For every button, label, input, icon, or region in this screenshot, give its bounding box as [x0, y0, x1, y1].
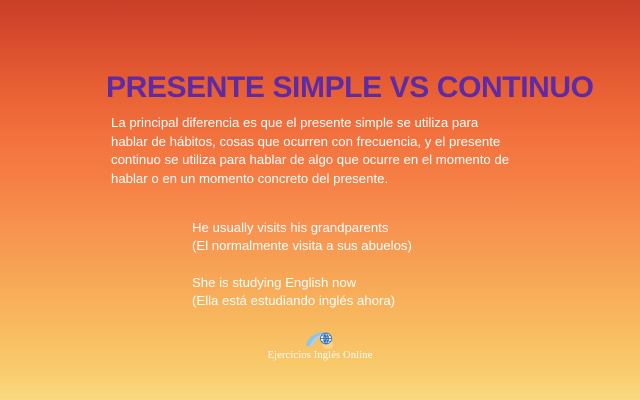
- examples-list: He usually visits his grandparents (El n…: [192, 219, 492, 311]
- intro-paragraph-line: hablar o en un momento concreto del pres…: [111, 170, 547, 189]
- page-title: PRESENTE SIMPLE VS CONTINUO: [106, 72, 546, 104]
- example-english-sentence: She is studying English now: [192, 274, 492, 292]
- example-english-sentence: He usually visits his grandparents: [192, 219, 492, 237]
- example-item: He usually visits his grandparents (El n…: [192, 219, 492, 256]
- globe-swoosh-icon: [303, 330, 337, 349]
- brand-logo: Ejercicios Inglés Online: [0, 330, 640, 361]
- intro-paragraph-line: La principal diferencia es que el presen…: [111, 114, 547, 133]
- intro-paragraph: La principal diferencia es que el presen…: [111, 114, 547, 188]
- example-spanish-translation: (Ella está estudiando inglés ahora): [192, 292, 492, 310]
- brand-logo-text: Ejercicios Inglés Online: [267, 350, 372, 361]
- intro-paragraph-line: continuo se utiliza para hablar de algo …: [111, 151, 547, 170]
- slide-canvas: PRESENTE SIMPLE VS CONTINUO La principal…: [0, 0, 640, 400]
- example-item: She is studying English now (Ella está e…: [192, 274, 492, 311]
- example-spanish-translation: (El normalmente visita a sus abuelos): [192, 237, 492, 255]
- intro-paragraph-line: hablar de hábitos, cosas que ocurren con…: [111, 133, 547, 152]
